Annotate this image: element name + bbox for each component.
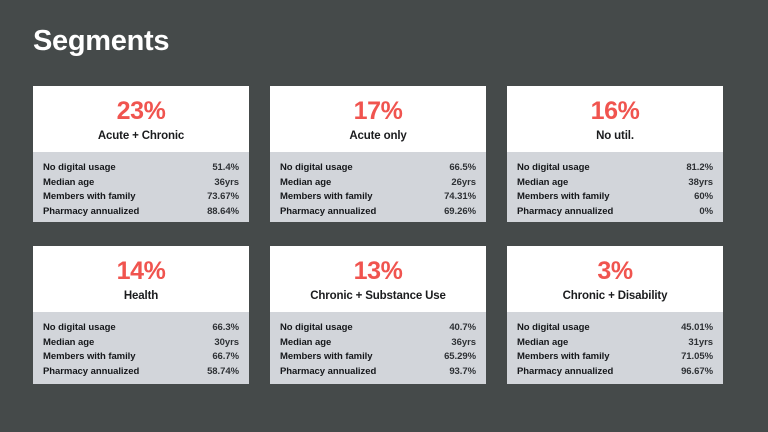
segment-card[interactable]: 14% Health No digital usage 66.3% Median… <box>33 246 249 384</box>
stat-label: Pharmacy annualized <box>280 205 376 220</box>
segment-percent: 3% <box>597 258 632 284</box>
segment-card[interactable]: 13% Chronic + Substance Use No digital u… <box>270 246 486 384</box>
stat-value: 71.05% <box>681 350 713 365</box>
stat-row: Pharmacy annualized 88.64% <box>43 205 239 220</box>
segment-card[interactable]: 16% No util. No digital usage 81.2% Medi… <box>507 86 723 222</box>
stat-value: 38yrs <box>688 176 713 191</box>
stat-value: 96.67% <box>681 365 713 380</box>
stat-value: 31yrs <box>688 336 713 351</box>
stat-row: Median age 31yrs <box>517 336 713 351</box>
stat-row: No digital usage 45.01% <box>517 321 713 336</box>
stat-row: Pharmacy annualized 93.7% <box>280 365 476 380</box>
stat-value: 36yrs <box>214 176 239 191</box>
stat-value: 66.3% <box>212 321 239 336</box>
stat-row: Median age 36yrs <box>280 336 476 351</box>
stat-row: Members with family 74.31% <box>280 190 476 205</box>
stat-row: No digital usage 81.2% <box>517 161 713 176</box>
stat-row: Pharmacy annualized 0% <box>517 205 713 220</box>
stat-row: Pharmacy annualized 96.67% <box>517 365 713 380</box>
stat-value: 66.7% <box>212 350 239 365</box>
stat-label: No digital usage <box>517 161 590 176</box>
stat-value: 93.7% <box>449 365 476 380</box>
stat-label: Median age <box>517 336 568 351</box>
stat-label: No digital usage <box>280 161 353 176</box>
stat-row: No digital usage 66.5% <box>280 161 476 176</box>
stat-label: Members with family <box>517 190 610 205</box>
segment-name: Acute only <box>349 130 406 142</box>
segment-card-header: 14% Health <box>33 246 249 312</box>
segment-stats: No digital usage 66.3% Median age 30yrs … <box>33 312 249 384</box>
stat-row: No digital usage 51.4% <box>43 161 239 176</box>
stat-row: Median age 38yrs <box>517 176 713 191</box>
stat-value: 74.31% <box>444 190 476 205</box>
stat-row: Median age 26yrs <box>280 176 476 191</box>
segment-card-header: 23% Acute + Chronic <box>33 86 249 152</box>
segment-name: Health <box>124 290 158 302</box>
segment-card-header: 16% No util. <box>507 86 723 152</box>
segment-card[interactable]: 23% Acute + Chronic No digital usage 51.… <box>33 86 249 222</box>
stat-row: No digital usage 40.7% <box>280 321 476 336</box>
segment-stats: No digital usage 81.2% Median age 38yrs … <box>507 152 723 222</box>
stat-value: 69.26% <box>444 205 476 220</box>
stat-row: Members with family 60% <box>517 190 713 205</box>
segment-card[interactable]: 17% Acute only No digital usage 66.5% Me… <box>270 86 486 222</box>
segment-percent: 14% <box>117 258 166 284</box>
stat-label: No digital usage <box>43 321 116 336</box>
stat-label: Median age <box>43 336 94 351</box>
stat-value: 88.64% <box>207 205 239 220</box>
stat-row: No digital usage 66.3% <box>43 321 239 336</box>
segment-card-grid: 23% Acute + Chronic No digital usage 51.… <box>33 86 723 384</box>
stat-label: Pharmacy annualized <box>280 365 376 380</box>
stat-label: Members with family <box>280 350 373 365</box>
segment-stats: No digital usage 40.7% Median age 36yrs … <box>270 312 486 384</box>
stat-row: Pharmacy annualized 69.26% <box>280 205 476 220</box>
stat-label: Pharmacy annualized <box>517 205 613 220</box>
segment-stats: No digital usage 51.4% Median age 36yrs … <box>33 152 249 222</box>
segment-percent: 16% <box>591 98 640 124</box>
stat-row: Members with family 65.29% <box>280 350 476 365</box>
stat-label: Members with family <box>517 350 610 365</box>
stat-value: 60% <box>694 190 713 205</box>
stat-row: Members with family 73.67% <box>43 190 239 205</box>
stat-label: Pharmacy annualized <box>517 365 613 380</box>
segment-card-header: 17% Acute only <box>270 86 486 152</box>
stat-label: Members with family <box>280 190 373 205</box>
stat-row: Members with family 71.05% <box>517 350 713 365</box>
stat-label: Members with family <box>43 190 136 205</box>
segment-name: Chronic + Disability <box>563 290 668 302</box>
segment-card-header: 13% Chronic + Substance Use <box>270 246 486 312</box>
stat-value: 36yrs <box>451 336 476 351</box>
stat-label: No digital usage <box>517 321 590 336</box>
stat-value: 58.74% <box>207 365 239 380</box>
segment-percent: 13% <box>354 258 403 284</box>
segment-card[interactable]: 3% Chronic + Disability No digital usage… <box>507 246 723 384</box>
segment-name: Acute + Chronic <box>98 130 184 142</box>
stat-value: 73.67% <box>207 190 239 205</box>
stat-label: Median age <box>280 176 331 191</box>
stat-value: 51.4% <box>212 161 239 176</box>
stat-label: Median age <box>43 176 94 191</box>
segment-percent: 23% <box>117 98 166 124</box>
stat-value: 30yrs <box>214 336 239 351</box>
stat-label: Members with family <box>43 350 136 365</box>
segments-slide: Segments 23% Acute + Chronic No digital … <box>0 0 768 432</box>
stat-row: Members with family 66.7% <box>43 350 239 365</box>
stat-value: 26yrs <box>451 176 476 191</box>
stat-row: Median age 36yrs <box>43 176 239 191</box>
segment-name: Chronic + Substance Use <box>310 290 446 302</box>
segment-card-header: 3% Chronic + Disability <box>507 246 723 312</box>
stat-value: 65.29% <box>444 350 476 365</box>
stat-label: Pharmacy annualized <box>43 365 139 380</box>
segment-stats: No digital usage 45.01% Median age 31yrs… <box>507 312 723 384</box>
stat-label: Median age <box>280 336 331 351</box>
stat-label: No digital usage <box>280 321 353 336</box>
page-title: Segments <box>33 27 169 56</box>
stat-row: Pharmacy annualized 58.74% <box>43 365 239 380</box>
stat-value: 45.01% <box>681 321 713 336</box>
stat-label: Median age <box>517 176 568 191</box>
stat-label: No digital usage <box>43 161 116 176</box>
segment-stats: No digital usage 66.5% Median age 26yrs … <box>270 152 486 222</box>
segment-percent: 17% <box>354 98 403 124</box>
stat-value: 0% <box>699 205 713 220</box>
segment-name: No util. <box>596 130 634 142</box>
stat-value: 81.2% <box>686 161 713 176</box>
stat-label: Pharmacy annualized <box>43 205 139 220</box>
stat-row: Median age 30yrs <box>43 336 239 351</box>
stat-value: 66.5% <box>449 161 476 176</box>
stat-value: 40.7% <box>449 321 476 336</box>
